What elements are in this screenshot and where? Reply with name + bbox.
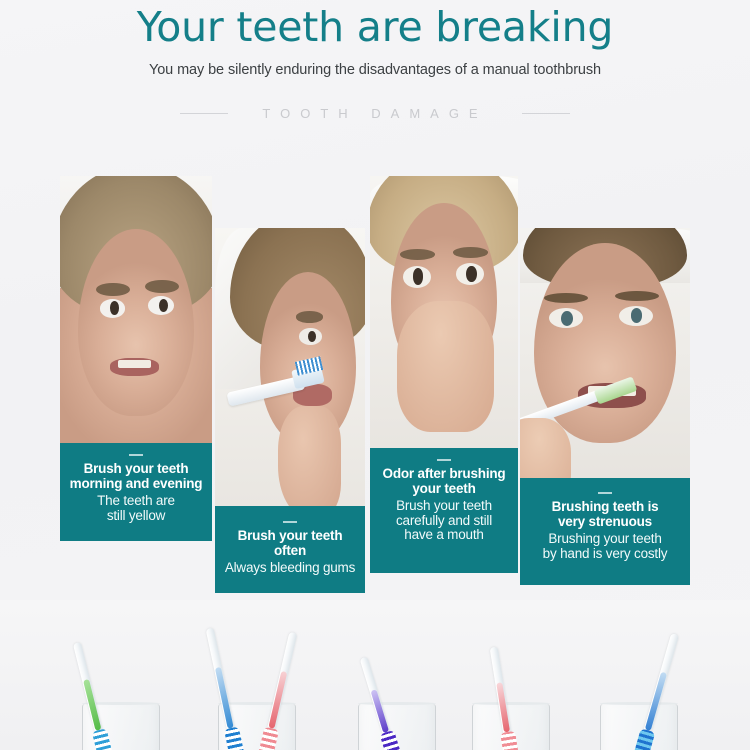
panel-3-headline-line1: Odor after brushing	[376, 467, 512, 482]
collage-panel-4[interactable]: Brushing teeth is very strenuous Brushin…	[520, 228, 690, 585]
panel-3-subtext-line3: have a mouth	[376, 528, 512, 543]
panel-3-headline-line2: your teeth	[376, 482, 512, 497]
panel-4-headline-line2: very strenuous	[526, 515, 684, 530]
caption-rule	[598, 492, 612, 494]
promo-banner: Your teeth are breaking You may be silen…	[0, 0, 750, 750]
panel-2-caption: Brush your teeth often Always bleeding g…	[215, 506, 365, 593]
panel-4-subtext-line1: Brushing your teeth	[526, 532, 684, 547]
panel-3-subtext-line2: carefully and still	[376, 514, 512, 529]
panel-4-subtext-line2: by hand is very costly	[526, 547, 684, 562]
collage-panel-1[interactable]: Brush your teeth morning and evening The…	[60, 176, 212, 541]
caption-rule	[129, 454, 143, 456]
panel-3-caption: Odor after brushing your teeth Brush you…	[370, 448, 518, 573]
woman-with-toothbrush-photo	[215, 228, 365, 506]
panel-2-headline-line1: Brush your teeth often	[221, 529, 359, 558]
woman-covering-mouth-photo	[370, 176, 518, 448]
panel-4-caption: Brushing teeth is very strenuous Brushin…	[520, 478, 690, 585]
caption-rule	[283, 521, 297, 523]
collage-panel-3[interactable]: Odor after brushing your teeth Brush you…	[370, 176, 518, 573]
toothbrush-glasses-photo	[0, 600, 750, 750]
panel-1-caption: Brush your teeth morning and evening The…	[60, 443, 212, 541]
caption-rule	[437, 459, 451, 461]
man-brushing-teeth-photo	[520, 228, 690, 478]
panel-1-headline-line1: Brush your teeth	[66, 462, 206, 477]
panel-1-subtext-line1: The teeth are	[66, 494, 206, 509]
worried-woman-photo	[60, 176, 212, 443]
panel-4-headline-line1: Brushing teeth is	[526, 500, 684, 515]
collage-panel-2[interactable]: Brush your teeth often Always bleeding g…	[215, 228, 365, 593]
panel-1-headline-line2: morning and evening	[66, 477, 206, 492]
panel-2-subtext-line1: Always bleeding gums	[221, 561, 359, 576]
panel-1-subtext-line2: still yellow	[66, 509, 206, 524]
panel-3-subtext-line1: Brush your teeth	[376, 499, 512, 514]
